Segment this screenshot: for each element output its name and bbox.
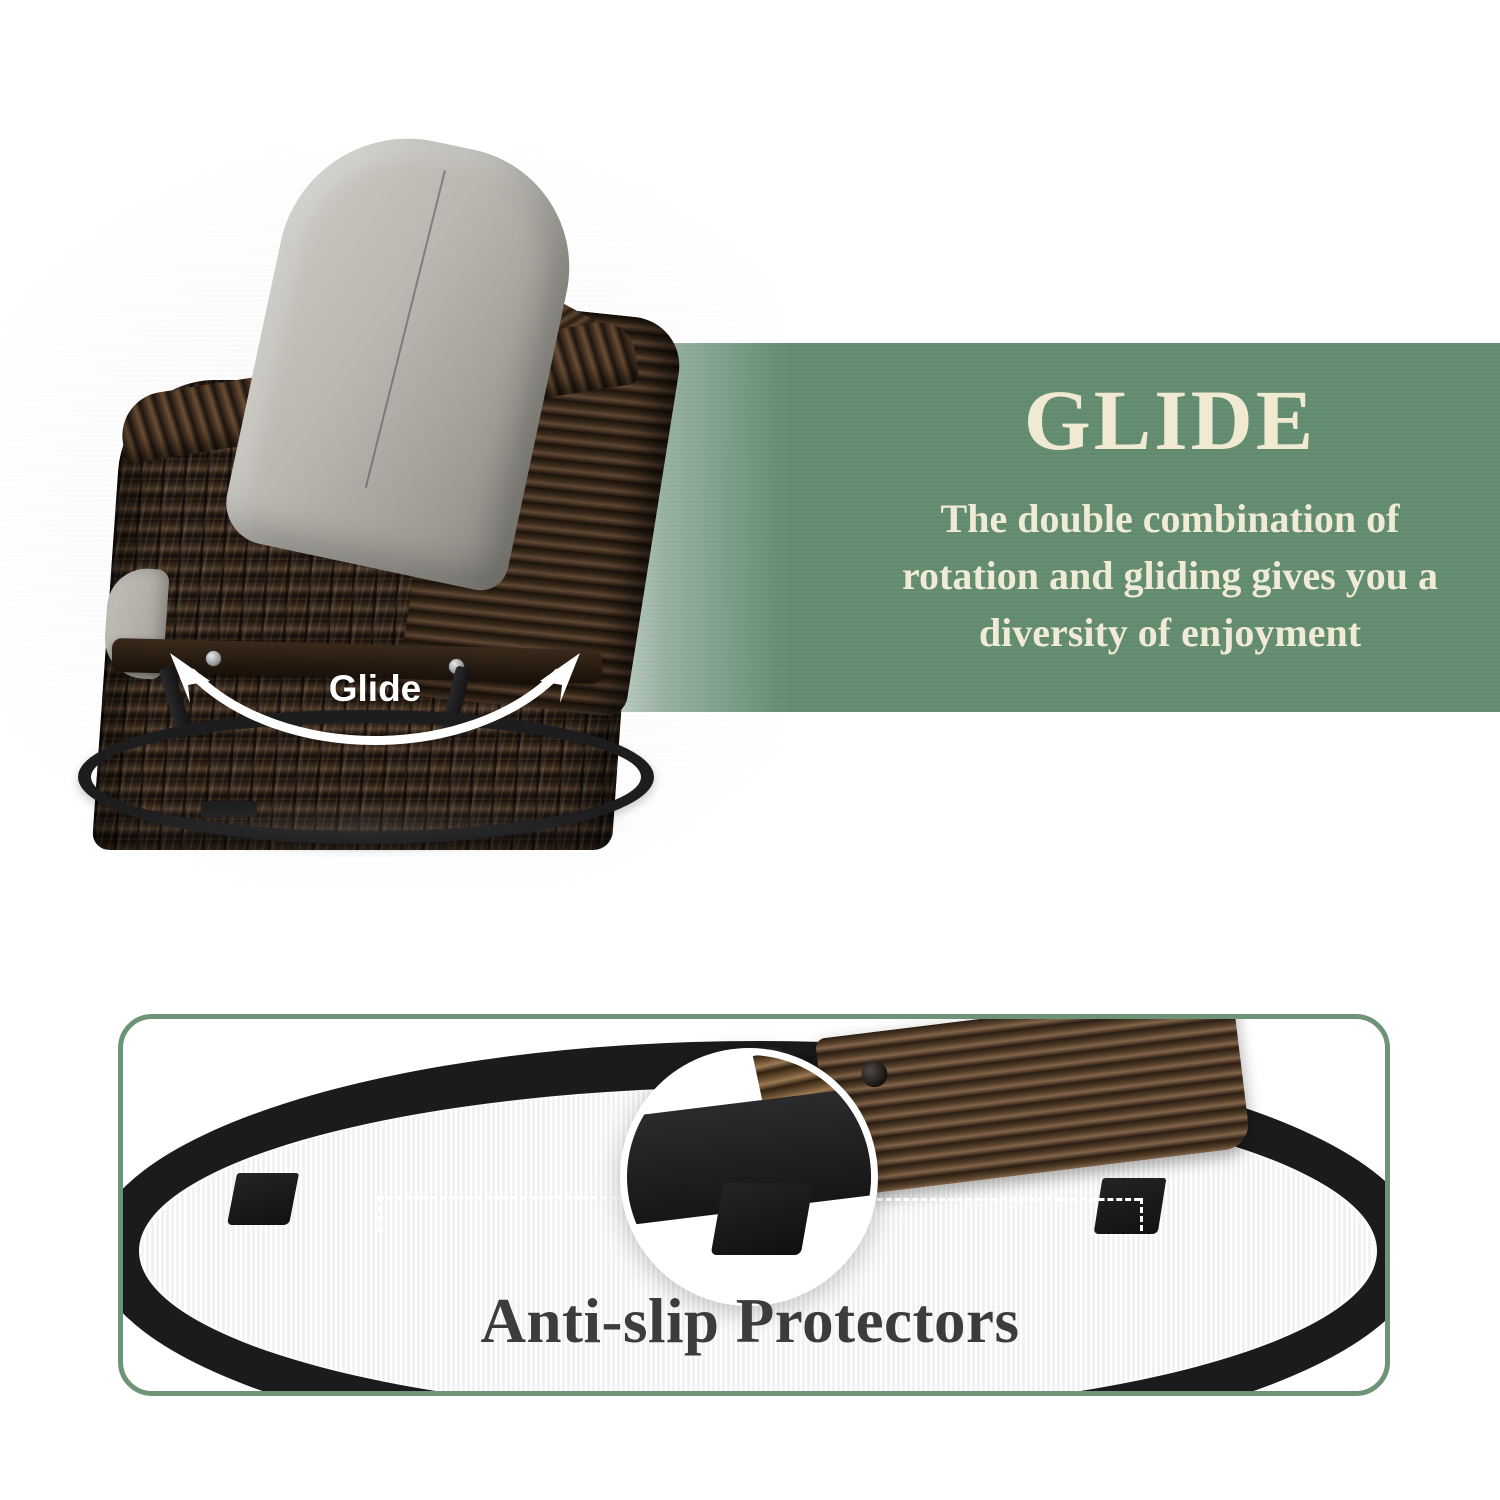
glide-text-block: GLIDE The double combination of rotation… <box>860 353 1480 662</box>
floor-shadow <box>80 800 640 850</box>
product-infographic-canvas: GLIDE The double combination of rotation… <box>0 0 1500 1500</box>
anti-slip-title: Anti-slip Protectors <box>0 1285 1500 1358</box>
glide-title: GLIDE <box>860 375 1480 465</box>
dashed-measure-line-right <box>868 1198 1140 1201</box>
anti-slip-foot-right <box>1094 1178 1167 1234</box>
anti-slip-foot-left <box>227 1173 299 1225</box>
swivel-glider-chair-photo <box>20 110 760 910</box>
magnifier-callout-circle <box>620 1048 878 1306</box>
glide-description: The double combination of rotation and g… <box>860 491 1480 661</box>
dashed-tick-right <box>1140 1198 1143 1240</box>
glide-feature-section: GLIDE The double combination of rotation… <box>0 0 1500 980</box>
dashed-tick-left <box>378 1196 381 1232</box>
magnified-anti-slip-foot <box>711 1183 814 1255</box>
glide-arrow-label: Glide <box>150 668 600 710</box>
